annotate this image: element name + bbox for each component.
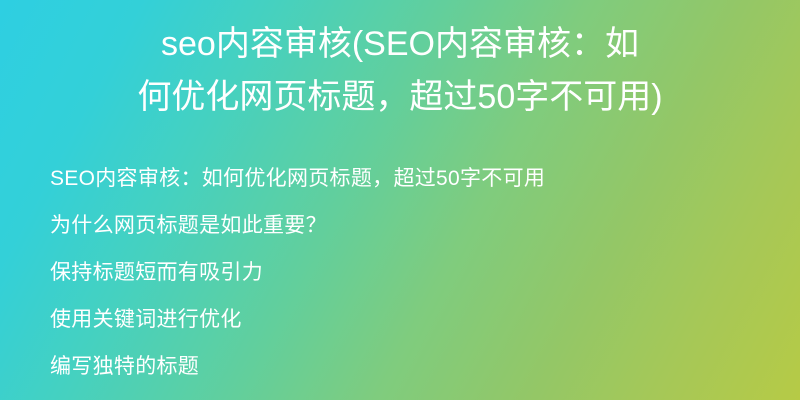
page-title: seo内容审核(SEO内容审核：如 何优化网页标题，超过50字不可用)	[0, 18, 800, 124]
body-line-question: 为什么网页标题是如此重要？	[50, 202, 750, 249]
title-line-2: 何优化网页标题，超过50字不可用)	[48, 71, 752, 124]
body-line-tip-3: 编写独特的标题	[50, 343, 750, 390]
body-line-tip-1: 保持标题短而有吸引力	[50, 249, 750, 296]
page-root: seo内容审核(SEO内容审核：如 何优化网页标题，超过50字不可用) SEO内…	[0, 0, 800, 400]
body-line-heading: SEO内容审核：如何优化网页标题，超过50字不可用	[50, 155, 750, 202]
body-line-tip-2: 使用关键词进行优化	[50, 296, 750, 343]
title-line-1: seo内容审核(SEO内容审核：如	[48, 18, 752, 71]
body-content: SEO内容审核：如何优化网页标题，超过50字不可用 为什么网页标题是如此重要？ …	[50, 155, 750, 390]
